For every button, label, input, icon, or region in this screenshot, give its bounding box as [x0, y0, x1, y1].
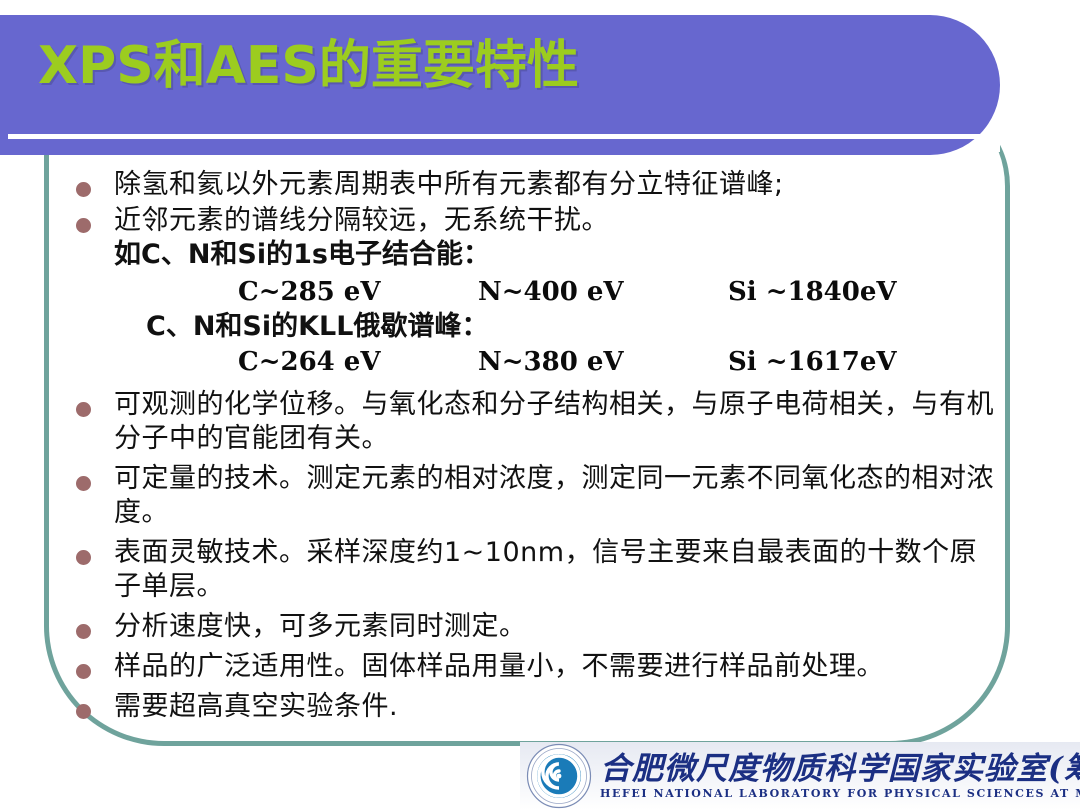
list-item-text: 近邻元素的谱线分隔较远，无系统干扰。 [114, 204, 998, 238]
list-item-text: 可观测的化学位移。与氧化态和分子结构相关，与原子电荷相关，与有机分子中的官能团有… [114, 388, 998, 456]
bullet-list: 除氢和氦以外元素周期表中所有元素都有分立特征谱峰; 近邻元素的谱线分隔较远，无系… [68, 168, 998, 726]
energy-value-carbon: C~285 eV [238, 274, 478, 310]
list-item: 除氢和氦以外元素周期表中所有元素都有分立特征谱峰; [68, 168, 998, 202]
list-item-text: 可定量的技术。测定元素的相对浓度，测定同一元素不同氧化态的相对浓度。 [114, 462, 998, 530]
logo-english-name: HEFEI NATIONAL LABORATORY FOR PHYSICAL S… [600, 787, 1080, 801]
list-item: 样品的广泛适用性。固体样品用量小，不需要进行样品前处理。 [68, 650, 998, 684]
bullet-dot-icon [76, 402, 91, 417]
list-item-text: 表面灵敏技术。采样深度约1~10nm，信号主要来自最表面的十数个原子单层。 [114, 536, 998, 604]
bullet-dot-icon [76, 704, 91, 719]
bullet-dot-icon [76, 218, 91, 233]
binding-energy-caption: 如C、N和Si的1s电子结合能： [114, 238, 998, 272]
logo-chinese-name: 合肥微尺度物质科学国家实验室(筹) [600, 751, 1080, 787]
list-item: 需要超高真空实验条件. [68, 690, 998, 724]
auger-peak-values: C~264 eV N~380 eV Si ~1617eV [68, 344, 998, 380]
presentation-slide: XPS和AES的重要特性 除氢和氦以外元素周期表中所有元素都有分立特征谱峰; 近… [0, 0, 1080, 810]
list-item-text: 样品的广泛适用性。固体样品用量小，不需要进行样品前处理。 [114, 650, 998, 684]
list-item: 分析速度快，可多元素同时测定。 [68, 610, 998, 644]
list-item-text: 需要超高真空实验条件. [114, 690, 998, 724]
auger-value-silicon: Si ~1617eV [728, 344, 968, 380]
bullet-dot-icon [76, 182, 91, 197]
bullet-dot-icon [76, 476, 91, 491]
energy-value-nitrogen: N~400 eV [478, 274, 728, 310]
page-title: XPS和AES的重要特性 [38, 36, 579, 96]
list-item-text: 分析速度快，可多元素同时测定。 [114, 610, 998, 644]
binding-energy-values: C~285 eV N~400 eV Si ~1840eV [68, 274, 998, 310]
list-item: 表面灵敏技术。采样深度约1~10nm，信号主要来自最表面的十数个原子单层。 [68, 536, 998, 604]
auger-peaks-caption: C、N和Si的KLL俄歇谱峰： [68, 310, 998, 344]
footer-logo: 合肥微尺度物质科学国家实验室(筹) HEFEI NATIONAL LABORAT… [520, 742, 1080, 810]
list-item-text: 除氢和氦以外元素周期表中所有元素都有分立特征谱峰; [114, 168, 998, 202]
bullet-dot-icon [76, 664, 91, 679]
list-item: 可观测的化学位移。与氧化态和分子结构相关，与原子电荷相关，与有机分子中的官能团有… [68, 388, 998, 456]
auger-value-carbon: C~264 eV [238, 344, 478, 380]
list-item: 近邻元素的谱线分隔较远，无系统干扰。 如C、N和Si的1s电子结合能： [68, 204, 998, 272]
banner-divider-rule [8, 134, 980, 139]
list-item: 可定量的技术。测定元素的相对浓度，测定同一元素不同氧化态的相对浓度。 [68, 462, 998, 530]
hefei-lab-emblem-icon [526, 743, 592, 809]
energy-value-silicon: Si ~1840eV [728, 274, 968, 310]
bullet-dot-icon [76, 550, 91, 565]
auger-value-nitrogen: N~380 eV [478, 344, 728, 380]
bullet-dot-icon [76, 624, 91, 639]
logo-text-block: 合肥微尺度物质科学国家实验室(筹) HEFEI NATIONAL LABORAT… [600, 751, 1080, 801]
